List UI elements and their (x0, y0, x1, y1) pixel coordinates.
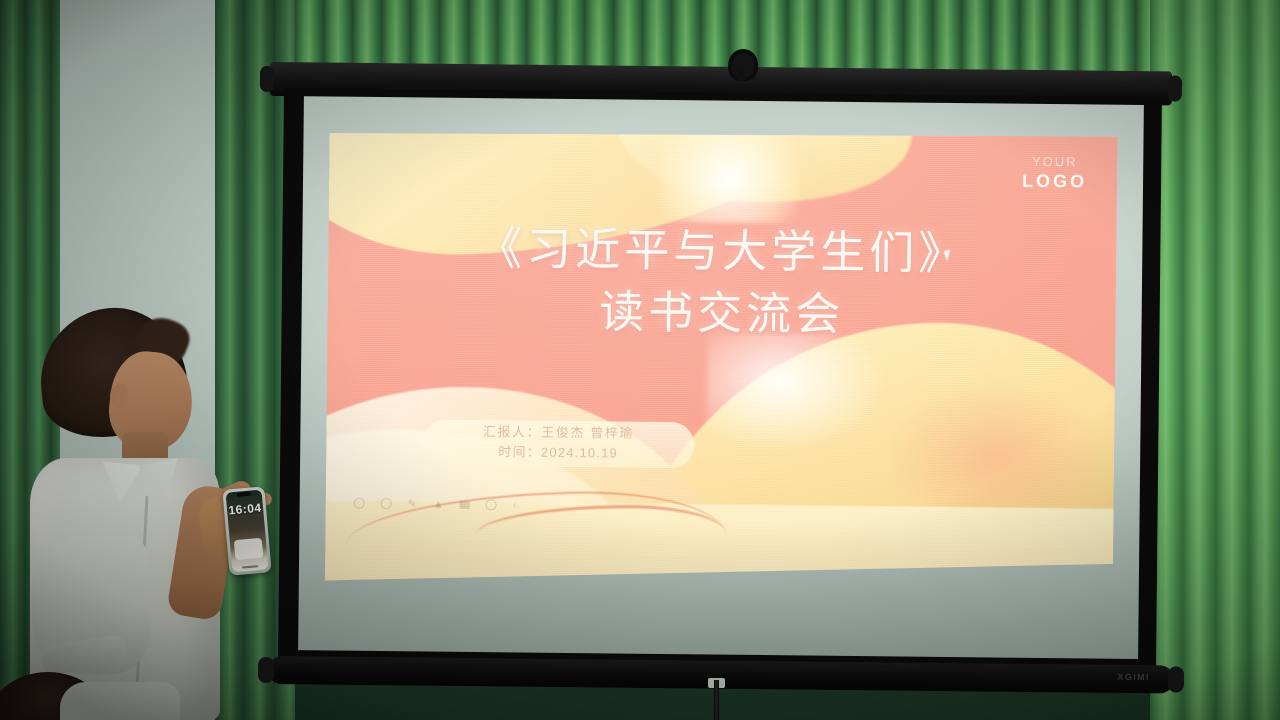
audience-member-shoulder (60, 682, 180, 720)
presentation-scene: YOUR LOGO 《习近平与大学生们》 读书交流会 汇报人：王俊杰 曾梓瑜 时… (0, 0, 1280, 720)
screen-brand-label: XGIMI (1117, 672, 1150, 682)
screen-surface: YOUR LOGO 《习近平与大学生们》 读书交流会 汇报人：王俊杰 曾梓瑜 时… (298, 96, 1144, 659)
circle-icon[interactable] (354, 498, 365, 509)
slide-overlay-toolbar[interactable]: ✎ ▲ ‹ (354, 497, 517, 512)
screen-bottom-cap-right (1168, 666, 1184, 692)
presentation-date: 时间：2024.10.19 (422, 441, 694, 463)
presenter-info: 汇报人：王俊杰 曾梓瑜 时间：2024.10.19 (422, 421, 694, 463)
screen-hook-icon (728, 49, 758, 81)
screen-support-pole (714, 680, 719, 720)
slide-logo-line2: LOGO (1022, 170, 1087, 193)
slide-title-line1: 《习近平与大学生们》 (477, 223, 968, 279)
projection-screen-assembly: YOUR LOGO 《习近平与大学生们》 读书交流会 汇报人：王俊杰 曾梓瑜 时… (262, 62, 1180, 690)
screen-top-cap-left (260, 66, 274, 92)
slide-logo: YOUR LOGO (1022, 154, 1087, 193)
slide-title: 《习近平与大学生们》 读书交流会 (327, 216, 1116, 348)
slides-icon[interactable] (460, 500, 470, 508)
sun-glow-decoration (659, 128, 800, 223)
presenter-ear (110, 384, 128, 408)
dune-highlight (706, 332, 887, 454)
phone-notification-card[interactable] (234, 538, 264, 560)
settings-icon[interactable] (486, 499, 497, 510)
phone-screen[interactable]: 16:04 (226, 490, 269, 573)
pen-icon[interactable]: ✎ (408, 497, 417, 510)
slide-logo-line1: YOUR (1022, 154, 1087, 171)
smartphone[interactable]: 16:04 (222, 486, 271, 575)
phone-notch (237, 492, 251, 497)
slide-title-line2: 读书交流会 (327, 279, 1116, 349)
chevron-left-icon[interactable]: ‹ (513, 499, 517, 511)
phone-clock: 16:04 (227, 501, 264, 518)
screen-frame: YOUR LOGO 《习近平与大学生们》 读书交流会 汇报人：王俊杰 曾梓瑜 时… (278, 88, 1162, 669)
screen-top-cap-right (1168, 75, 1182, 101)
presenter-person: 16:04 (18, 300, 278, 720)
pointer-icon[interactable]: ▲ (433, 498, 444, 510)
play-icon[interactable] (381, 498, 392, 509)
phone-home-indicator[interactable] (242, 565, 258, 568)
projected-slide: YOUR LOGO 《习近平与大学生们》 读书交流会 汇报人：王俊杰 曾梓瑜 时… (325, 128, 1118, 588)
